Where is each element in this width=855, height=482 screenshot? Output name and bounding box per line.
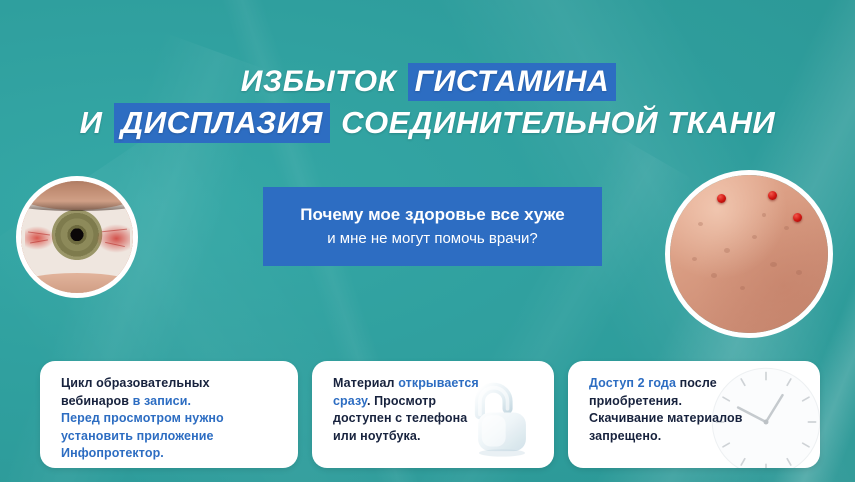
card-text-segment: в записи. xyxy=(133,394,191,408)
card-text-segment: вебинаров xyxy=(61,394,133,408)
page-title: ИЗБЫТОК ГИСТАМИНА И ДИСПЛАЗИЯ СОЕДИНИТЕЛ… xyxy=(0,64,855,142)
skin-photo-circle xyxy=(665,170,833,338)
skin-with-cherry-angiomas-photo xyxy=(670,175,828,333)
eyelashes xyxy=(21,201,133,211)
card-text-segment: открывается xyxy=(398,376,479,390)
headline-line2-plain-1: И xyxy=(78,103,114,143)
info-card-duration-text: Доступ 2 года послеприобретения.Скачиван… xyxy=(568,361,820,445)
red-irritated-eye-photo xyxy=(21,181,133,293)
card-text-segment: установить приложение xyxy=(61,429,214,443)
skin-pore xyxy=(784,226,789,230)
banner-stage: ИЗБЫТОК ГИСТАМИНА И ДИСПЛАЗИЯ СОЕДИНИТЕЛ… xyxy=(0,0,855,482)
cherry-angioma xyxy=(793,213,802,222)
cherry-angioma xyxy=(768,191,777,200)
question-banner: Почему мое здоровье все хуже и мне не мо… xyxy=(263,187,602,266)
headline-line-1: ИЗБЫТОК ГИСТАМИНА xyxy=(0,64,855,100)
card-text-segment: сразу xyxy=(333,394,367,408)
info-card-webinars[interactable]: Цикл образовательныхвебинаров в записи.П… xyxy=(40,361,298,468)
eye-photo-circle xyxy=(16,176,138,298)
skin-pore xyxy=(752,235,757,239)
headline-line-2: И ДИСПЛАЗИЯ СОЕДИНИТЕЛЬНОЙ ТКАНИ xyxy=(0,104,855,142)
skin-pore xyxy=(692,257,697,261)
skin-pore xyxy=(740,286,745,290)
skin-pore xyxy=(796,270,802,275)
skin-pore xyxy=(711,273,717,278)
question-main-text: Почему мое здоровье все хуже xyxy=(300,204,564,226)
info-card-access[interactable]: Материал открываетсясразу. Просмотрдосту… xyxy=(312,361,554,468)
card-text-segment: Инфопротектор. xyxy=(61,446,164,460)
card-text-segment: доступен с телефона xyxy=(333,411,467,425)
skin-pore xyxy=(762,213,766,217)
card-text-segment: Скачивание материалов xyxy=(589,411,743,425)
info-card-duration[interactable]: Доступ 2 года послеприобретения.Скачиван… xyxy=(568,361,820,468)
eye-redness-left xyxy=(25,226,54,251)
headline-highlight-dysplasia: ДИСПЛАЗИЯ xyxy=(114,103,330,143)
headline-highlight-histamine: ГИСТАМИНА xyxy=(408,63,617,101)
skin-pore xyxy=(698,222,703,226)
card-text-segment: Материал xyxy=(333,376,398,390)
headline-line2-plain-2: СОЕДИНИТЕЛЬНОЙ ТКАНИ xyxy=(330,103,777,143)
info-card-webinars-text: Цикл образовательныхвебинаров в записи.П… xyxy=(40,361,298,463)
cherry-angioma xyxy=(717,194,726,203)
card-text-segment: после xyxy=(676,376,717,390)
question-sub-text: и мне не могут помочь врачи? xyxy=(327,229,538,249)
card-text-segment: . Просмотр xyxy=(367,394,436,408)
eye-lower-lid xyxy=(16,273,138,298)
headline-line1-plain: ИЗБЫТОК xyxy=(239,63,408,101)
card-text-segment: или ноутбука. xyxy=(333,429,421,443)
skin-pore xyxy=(724,248,730,253)
card-text-segment: запрещено. xyxy=(589,429,661,443)
card-text-segment: Перед просмотром нужно xyxy=(61,411,224,425)
card-text-segment: Доступ 2 года xyxy=(589,376,676,390)
skin-pore xyxy=(770,262,777,267)
card-text-segment: приобретения. xyxy=(589,394,682,408)
info-card-access-text: Материал открываетсясразу. Просмотрдосту… xyxy=(312,361,554,445)
card-text-segment: Цикл образовательных xyxy=(61,376,210,390)
